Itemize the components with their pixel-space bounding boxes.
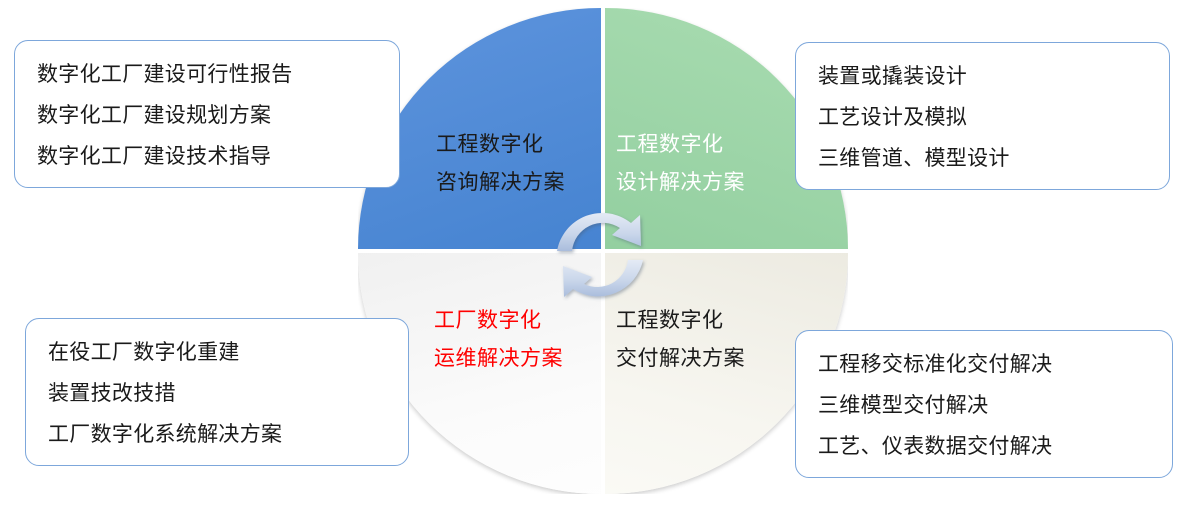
diagram-canvas: 工程数字化 咨询解决方案 工程数字化 设计解决方案 工厂数字化 运维解决方案 工… (0, 0, 1184, 505)
callout-design-line-1: 装置或撬装设计 (818, 57, 1149, 98)
callout-operation-line-3: 工厂数字化系统解决方案 (48, 415, 388, 456)
callout-operation[interactable]: 在役工厂数字化重建 装置技改技措 工厂数字化系统解决方案 (25, 318, 409, 466)
callout-consulting-line-1: 数字化工厂建设可行性报告 (37, 55, 379, 96)
quadrant-delivery-label-line2: 交付解决方案 (616, 340, 745, 378)
quadrant-operation-label-line2: 运维解决方案 (434, 340, 563, 378)
quadrant-consulting-label: 工程数字化 咨询解决方案 (436, 126, 565, 202)
callout-operation-line-1: 在役工厂数字化重建 (48, 333, 388, 374)
arrow-clockwise-bottom-icon (563, 260, 643, 297)
callout-consulting-line-3: 数字化工厂建设技术指导 (37, 137, 379, 178)
quadrant-consulting-label-line1: 工程数字化 (436, 126, 565, 164)
callout-operation-line-2: 装置技改技措 (48, 374, 388, 415)
callout-design[interactable]: 装置或撬装设计 工艺设计及模拟 三维管道、模型设计 (795, 42, 1170, 190)
callout-delivery[interactable]: 工程移交标准化交付解决 三维模型交付解决 工艺、仪表数据交付解决 (795, 330, 1173, 478)
quadrant-operation-label: 工厂数字化 运维解决方案 (434, 302, 563, 378)
callout-delivery-line-1: 工程移交标准化交付解决 (818, 345, 1152, 386)
callout-consulting[interactable]: 数字化工厂建设可行性报告 数字化工厂建设规划方案 数字化工厂建设技术指导 (14, 40, 400, 188)
quadrant-operation-label-line1: 工厂数字化 (434, 302, 563, 340)
callout-design-line-3: 三维管道、模型设计 (818, 139, 1149, 180)
cycle-arrows (548, 188, 658, 323)
arrow-clockwise-top-icon (557, 213, 641, 251)
callout-design-line-2: 工艺设计及模拟 (818, 98, 1149, 139)
quadrant-consulting-label-line2: 咨询解决方案 (436, 164, 565, 202)
quadrant-design-label-line1: 工程数字化 (616, 126, 745, 164)
callout-consulting-line-2: 数字化工厂建设规划方案 (37, 96, 379, 137)
callout-delivery-line-3: 工艺、仪表数据交付解决 (818, 427, 1152, 468)
callout-delivery-line-2: 三维模型交付解决 (818, 386, 1152, 427)
